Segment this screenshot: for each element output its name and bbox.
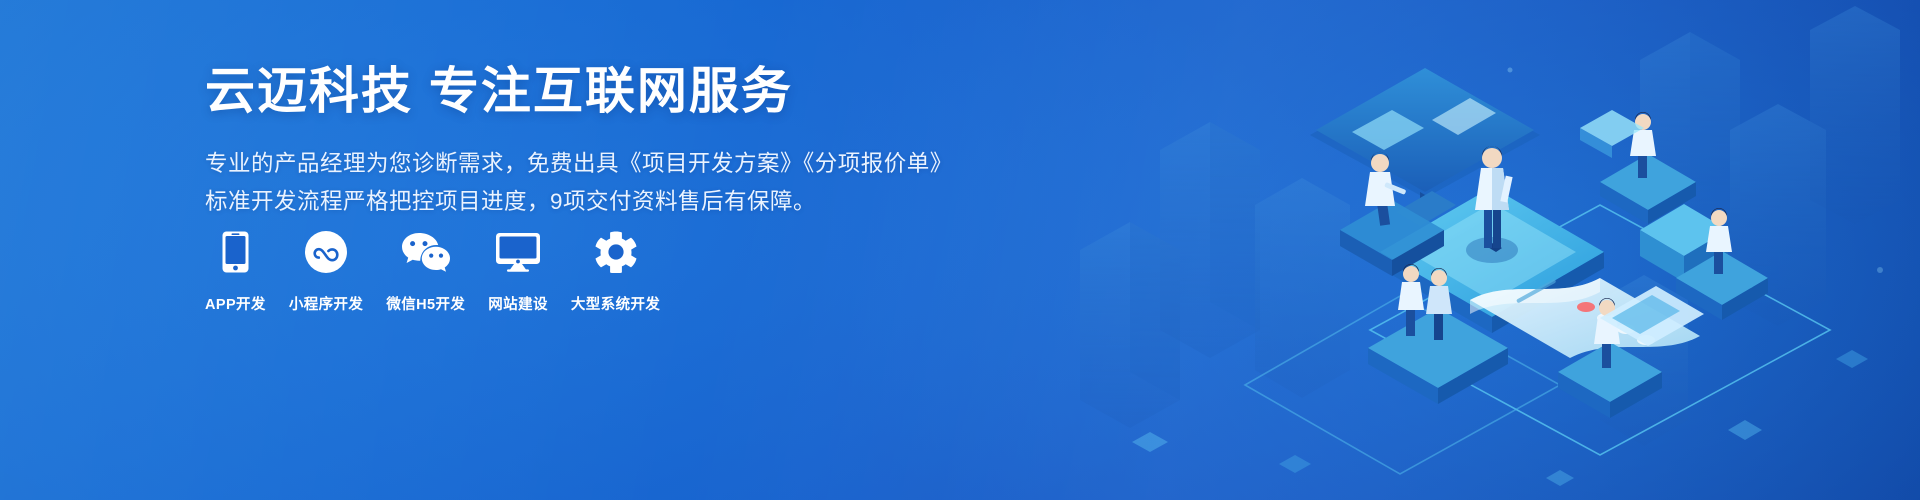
service-label: APP开发 xyxy=(205,293,266,314)
service-label: 大型系统开发 xyxy=(571,293,660,314)
hero-subtitle: 专业的产品经理为您诊断需求，免费出具《项目开发方案》《分项报价单》 标准开发流程… xyxy=(205,145,1105,222)
service-item-app[interactable]: APP开发 xyxy=(205,230,266,314)
monitor-icon xyxy=(495,230,541,274)
service-label: 网站建设 xyxy=(488,293,548,314)
subtitle-line-1: 专业的产品经理为您诊断需求，免费出具《项目开发方案》《分项报价单》 xyxy=(205,145,1105,183)
wechat-icon xyxy=(400,230,452,274)
service-item-website[interactable]: 网站建设 xyxy=(488,230,548,314)
service-item-wechat-h5[interactable]: 微信H5开发 xyxy=(386,230,465,314)
mobile-phone-icon xyxy=(222,230,249,274)
mini-program-icon xyxy=(305,230,347,274)
hero-illustration xyxy=(1040,0,1920,500)
page-title: 云迈科技 专注互联网服务 xyxy=(205,62,1105,121)
hero-banner: 云迈科技 专注互联网服务 专业的产品经理为您诊断需求，免费出具《项目开发方案》《… xyxy=(0,0,1920,500)
service-item-mini-program[interactable]: 小程序开发 xyxy=(289,230,364,314)
service-label: 小程序开发 xyxy=(289,293,364,314)
service-label: 微信H5开发 xyxy=(386,293,465,314)
hero-text-block: 云迈科技 专注互联网服务 专业的产品经理为您诊断需求，免费出具《项目开发方案》《… xyxy=(205,62,1105,222)
service-item-large-system[interactable]: 大型系统开发 xyxy=(571,230,660,314)
subtitle-line-2: 标准开发流程严格把控项目进度，9项交付资料售后有保障。 xyxy=(205,183,1105,221)
gear-icon xyxy=(595,230,637,274)
service-list: APP开发 小程序开发 微信 xyxy=(205,230,660,314)
